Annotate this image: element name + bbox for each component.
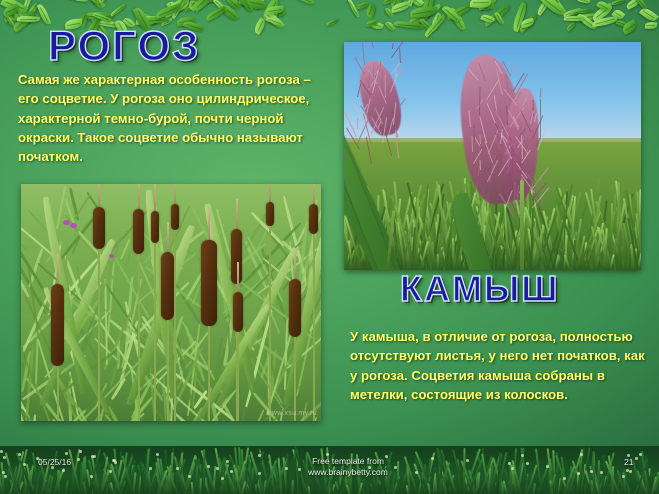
grass-blade [396,479,400,494]
seed-dot [258,472,261,475]
seed-dot [226,460,229,463]
cattail-tip [167,222,169,254]
grass-blade [535,448,543,494]
presentation-slide: РОГОЗ Самая же характерная особенность р… [0,0,659,494]
cattail-spike [289,279,301,337]
leaf-icon [109,3,126,16]
paragraph-kamysh: У камыша, в отличие от рогоза, полностью… [350,327,650,404]
leaf-icon [611,0,625,6]
cattail-tip [98,184,100,209]
seed-dot [207,465,210,468]
grass-blade [203,449,205,494]
leaf-icon [205,6,228,22]
grass-blade [291,480,294,494]
seed-dot [65,452,68,455]
seed-dot [629,470,632,473]
grass-blade [493,477,496,494]
cattail-spike [151,211,159,243]
leaf-icon [409,6,436,17]
seed-dot [23,463,26,466]
cattail-stem [167,320,169,421]
seed-dot [526,462,529,465]
cattail-tip [174,184,176,206]
cattail-tip [138,184,140,211]
cattail-spike [309,204,318,234]
cattail-stem [269,226,271,421]
cattail-stem [174,230,176,421]
cattail-tip [154,184,156,213]
cattail-spike [233,292,243,332]
leaf-icon [577,0,590,4]
leaf-icon [565,21,576,31]
seed-dot [0,450,3,453]
reed-blade [104,279,107,365]
paragraph-rogoz: Самая же характерная особенность рогоза … [18,70,316,166]
photo-reeds [344,42,641,270]
cattail-stem [294,337,296,421]
grass-blade [71,471,74,494]
cattail-spike [133,209,144,254]
footer-credit-line2: www.brainybetty.com [288,467,408,478]
footer-date: 05/25/16 [38,457,71,468]
seed-dot [521,454,524,457]
seed-dot [431,457,434,460]
reed-blade [319,314,321,382]
title-rogoz: РОГОЗ [48,22,200,70]
photo-cattails: www.xsu.my.ru [21,184,321,421]
cattail-spike [93,207,105,249]
seed-dot [3,456,6,459]
leaf-icon [564,15,584,21]
seed-dot [156,453,159,456]
grass-blade [199,478,202,494]
seed-dot [600,471,603,474]
cattail-spike [161,252,174,320]
cattail-spike [171,204,179,230]
purple-flower [109,254,114,258]
cattail-stem [208,326,210,421]
leaf-icon [67,0,88,3]
leaf-icon [644,21,657,29]
footer-page-number: 21 [624,457,633,468]
leaf-icon [252,17,267,35]
cattail-stem [138,254,140,421]
cattail-tip [269,184,271,204]
reed-blade [239,409,245,421]
seed-dot [79,450,82,453]
seed-dot [577,472,580,475]
seed-dot [2,471,5,474]
cattail-tip [294,249,296,281]
purple-flower [63,220,70,225]
cattail-stem [154,243,156,421]
seed-dot [258,454,261,457]
cattail-stem [98,249,100,421]
seed-dot [149,467,152,470]
cattail-tip [236,199,238,231]
seed-dot [112,459,115,462]
title-kamysh: КАМЫШ [400,268,559,310]
cattail-stem [57,366,59,421]
seed-dot [18,453,21,456]
cattail-stem [237,332,239,421]
seed-dot [635,457,638,460]
seed-dot [216,467,219,470]
footer-credit-line1: Free template from [288,456,408,467]
grass-blade [532,483,536,494]
cattail-tip [57,254,59,286]
seed-dot [639,453,642,456]
cattail-spike [266,202,274,226]
cattail-tip [313,184,315,206]
seed-dot [466,459,469,462]
purple-flower [70,223,77,228]
seed-dot [77,458,80,461]
panicle-strand [540,88,542,98]
reed-blade [74,194,90,219]
reed-blade [21,191,22,204]
cattail-stem [313,234,315,421]
cattail-spike [201,240,217,326]
seed-dot [590,470,593,473]
leaf-icon [290,0,315,6]
photo-watermark: www.xsu.my.ru [267,410,317,417]
leaf-icon [347,0,360,18]
reed-stem [520,180,524,270]
leaf-icon [326,18,340,27]
cattail-tip [208,210,210,242]
footer-credit: Free template from www.brainybetty.com [288,456,408,478]
seed-dot [109,470,112,473]
reed-blade [319,420,321,421]
seed-dot [221,477,224,480]
cattail-spike [51,284,64,366]
cattail-tip [237,262,239,294]
seed-dot [62,469,65,472]
grass-blade [64,480,69,494]
